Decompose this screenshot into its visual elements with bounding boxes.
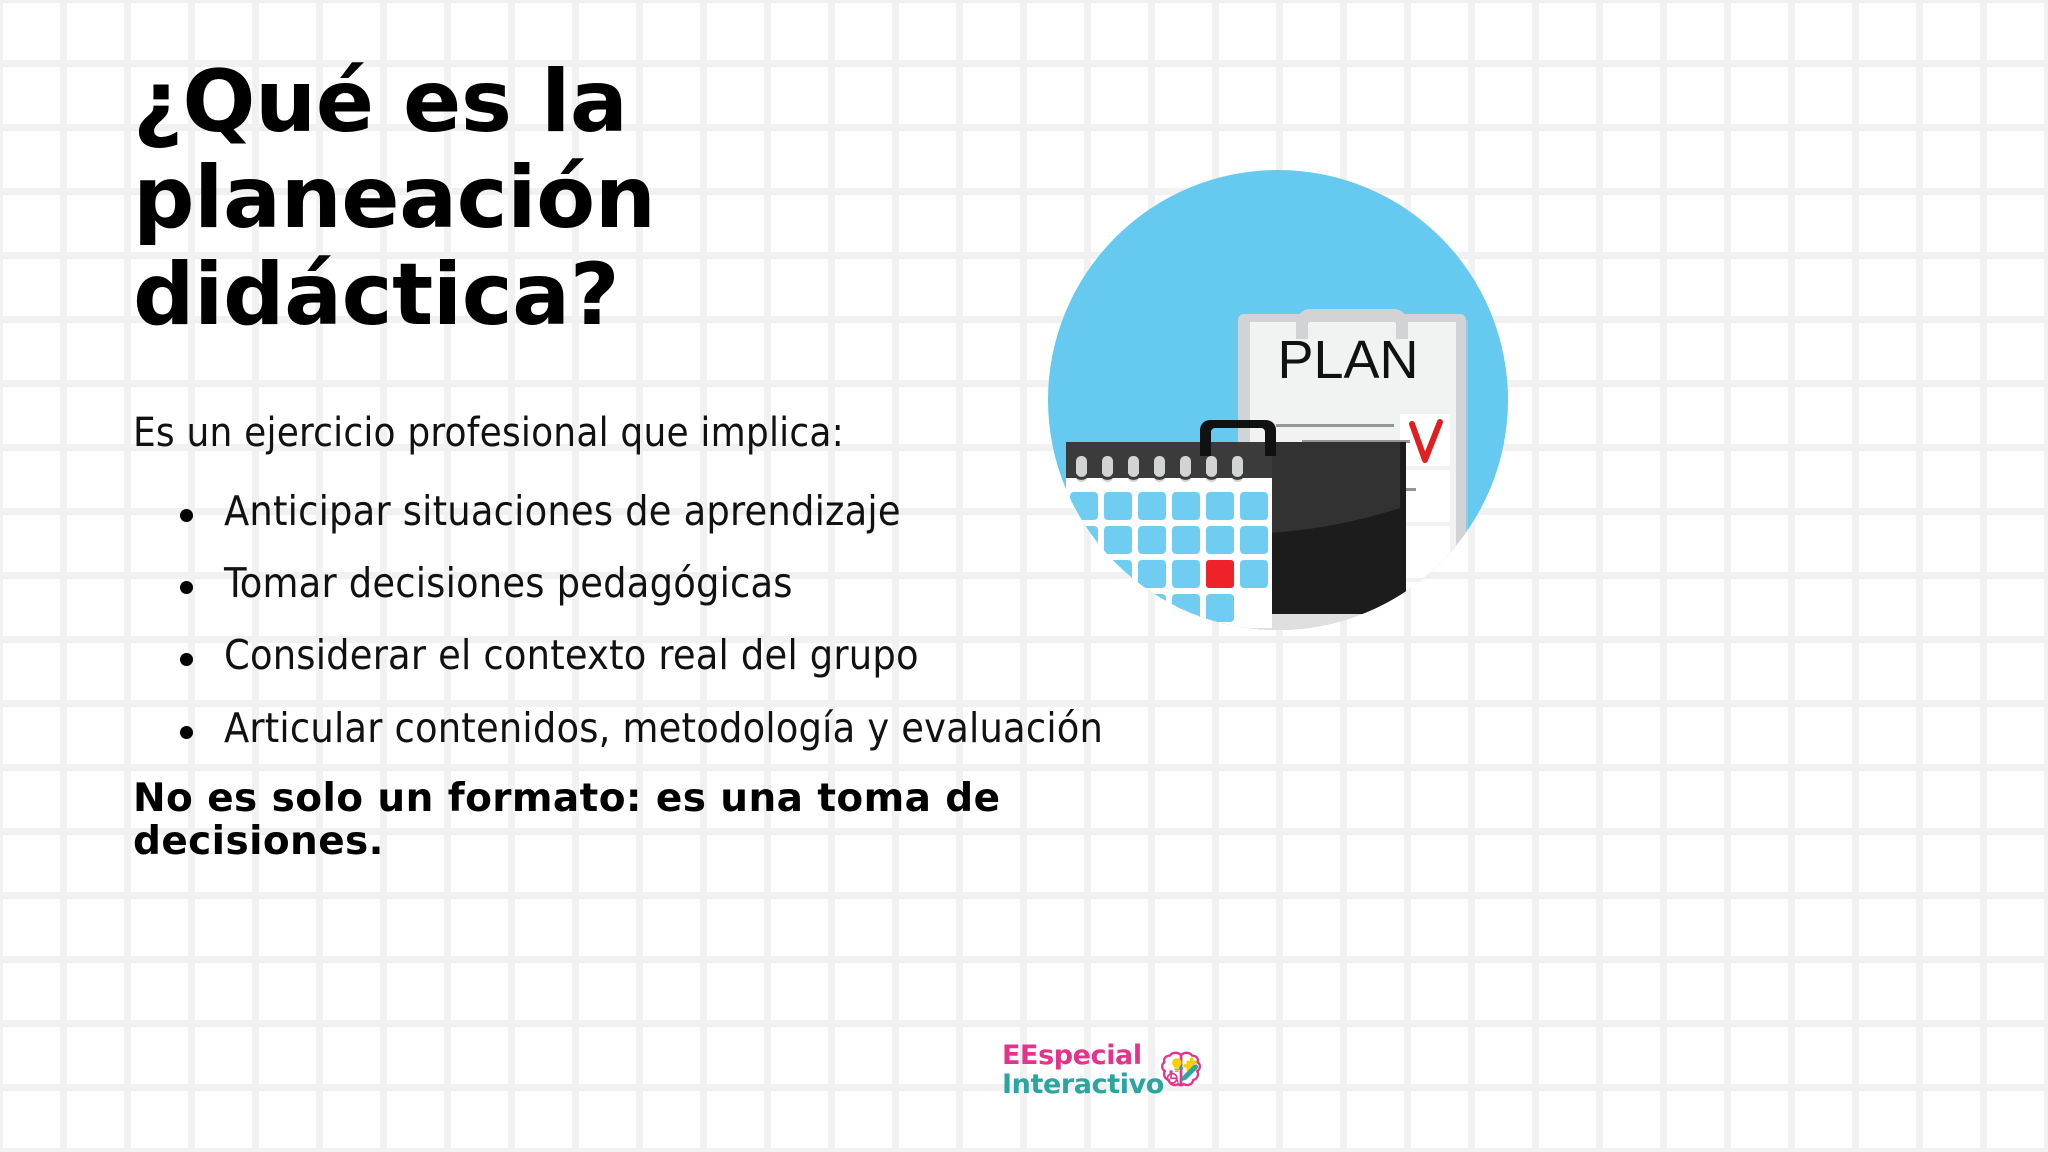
list-item-label: Anticipar situaciones de aprendizaje xyxy=(224,487,901,535)
calendar-icon xyxy=(1066,420,1276,628)
brain-logo-icon xyxy=(1160,1033,1202,1107)
content-column: ¿Qué es la planeación didáctica? Es un e… xyxy=(133,54,1133,864)
brain-center-dot xyxy=(1179,1066,1183,1070)
planning-illustration: PLAN xyxy=(1048,170,1508,630)
slide-canvas: ¿Qué es la planeación didáctica? Es un e… xyxy=(0,0,2048,1152)
logo-line-two: Interactivo xyxy=(1002,1071,1164,1098)
calendar-highlighted-day xyxy=(1206,560,1234,588)
lead-paragraph: Es un ejercicio profesional que implica: xyxy=(133,411,1133,455)
list-item-label: Articular contenidos, metodología y eval… xyxy=(224,704,1103,752)
brand-logo: EEspecial Interactivo xyxy=(1002,1030,1202,1110)
clipboard-title: PLAN xyxy=(1277,330,1418,390)
page-title: ¿Qué es la planeación didáctica? xyxy=(133,54,1143,343)
list-item-label: Tomar decisiones pedagógicas xyxy=(224,559,793,607)
wheelchair-icon xyxy=(1167,1070,1177,1083)
list-item: Tomar decisiones pedagógicas xyxy=(178,561,1133,605)
list-item: Anticipar situaciones de aprendizaje xyxy=(178,489,1133,533)
closing-statement: No es solo un formato: es una toma de de… xyxy=(133,778,1133,864)
bullet-list: Anticipar situaciones de aprendizaje Tom… xyxy=(133,489,1133,750)
list-item: Considerar el contexto real del grupo xyxy=(178,633,1133,677)
bullet-dot-icon xyxy=(180,653,193,666)
bullet-dot-icon xyxy=(180,581,193,594)
list-item: Articular contenidos, metodología y eval… xyxy=(178,706,1133,750)
bullet-dot-icon xyxy=(180,726,193,739)
list-item-label: Considerar el contexto real del grupo xyxy=(224,631,919,679)
bullet-dot-icon xyxy=(180,509,193,522)
logo-wordmark: EEspecial Interactivo xyxy=(1002,1042,1164,1098)
logo-line-one: EEspecial xyxy=(1002,1042,1164,1069)
